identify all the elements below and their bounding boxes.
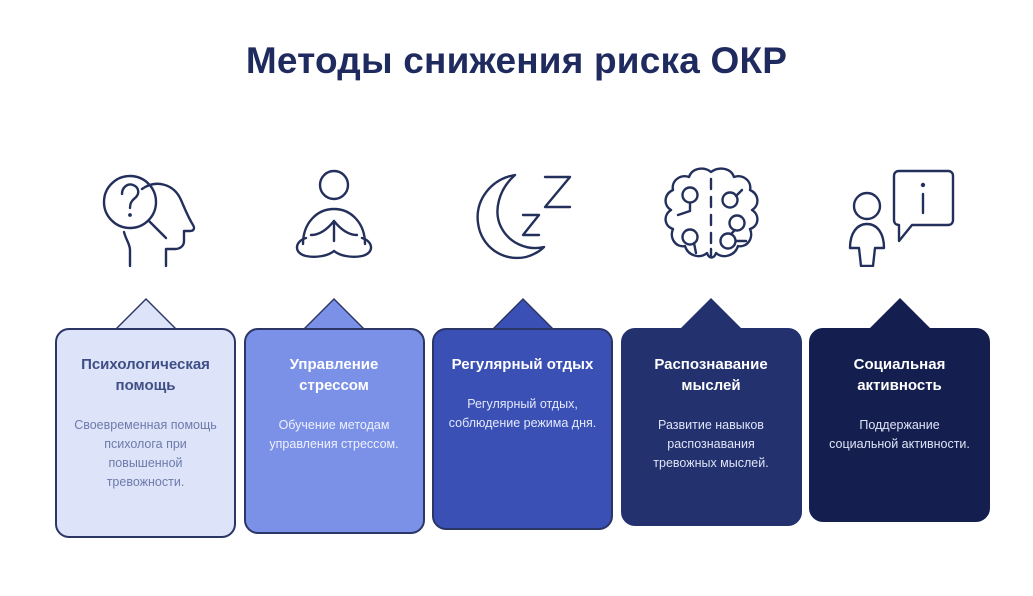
card-description: Обучение методам управления стрессом. [259,416,410,454]
card-pointer [681,300,741,330]
card-body: Социальная активность Поддержание социал… [809,328,990,522]
card-pointer [870,300,930,330]
method-column-1: Психологическая помощь Своевременная пом… [55,155,236,538]
method-column-3: Регулярный отдых Регулярный отдых, соблю… [432,155,613,530]
card-pointer [304,300,364,330]
card-title: Управление стрессом [259,354,410,396]
method-column-2: Управление стрессом Обучение методам упр… [244,155,425,534]
methods-columns: Психологическая помощь Своевременная пом… [55,155,990,538]
card-description: Развитие навыков распознавания тревожных… [636,416,787,473]
head-question-magnifier-icon [86,155,206,275]
card-body: Управление стрессом Обучение методам упр… [244,328,425,534]
method-card-1[interactable]: Психологическая помощь Своевременная пом… [55,300,236,538]
card-title: Распознавание мыслей [636,354,787,396]
card-pointer [116,300,176,330]
person-speech-bubble-info-icon [840,155,960,275]
method-card-5[interactable]: Социальная активность Поддержание социал… [809,300,990,522]
card-description: Своевременная помощь психолога при повыш… [70,416,221,492]
card-body: Регулярный отдых Регулярный отдых, соблю… [432,328,613,530]
method-card-2[interactable]: Управление стрессом Обучение методам упр… [244,300,425,534]
meditation-person-icon [274,155,394,275]
method-column-5: Социальная активность Поддержание социал… [809,155,990,522]
card-title: Психологическая помощь [70,354,221,396]
card-pointer [493,300,553,330]
card-body: Психологическая помощь Своевременная пом… [55,328,236,538]
moon-sleep-zzz-icon [463,155,583,275]
method-card-3[interactable]: Регулярный отдых Регулярный отдых, соблю… [432,300,613,530]
brain-network-icon [651,155,771,275]
card-title: Социальная активность [824,354,975,396]
infographic-canvas: Методы снижения риска ОКР [0,0,1033,596]
card-description: Поддержание социальной активности. [824,416,975,454]
card-body: Распознавание мыслей Развитие навыков ра… [621,328,802,526]
method-card-4[interactable]: Распознавание мыслей Развитие навыков ра… [621,300,802,526]
card-description: Регулярный отдых, соблюдение режима дня. [447,395,598,433]
card-title: Регулярный отдых [447,354,598,375]
page-title: Методы снижения риска ОКР [0,38,1033,84]
method-column-4: Распознавание мыслей Развитие навыков ра… [621,155,802,526]
